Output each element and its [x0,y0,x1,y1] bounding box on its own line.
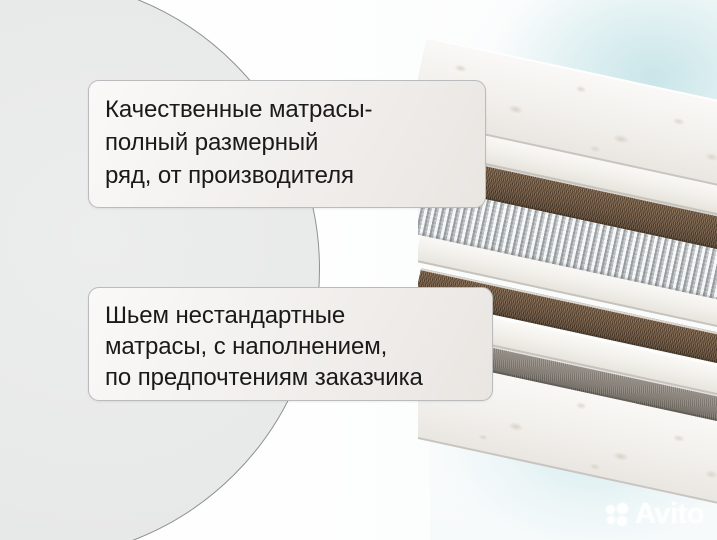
avito-watermark: Avito [606,500,704,529]
promo-image-canvas: Качественные матрасы- полный размерный р… [0,0,717,540]
callout-line: полный размерный [105,126,471,159]
callout-bubble-custom: Шьем нестандартные матрасы, с наполнение… [88,287,493,401]
callout-line: Качественные матрасы- [105,93,471,126]
avito-logo-icon [606,503,630,527]
callout-line: по предпочтениям заказчика [105,362,478,393]
callout-bubble-quality: Качественные матрасы- полный размерный р… [88,80,486,208]
callout-line: матрасы, с наполнением, [105,331,478,362]
callout-line: Шьем нестандартные [105,300,478,331]
callout-line: ряд, от производителя [105,159,471,192]
avito-wordmark: Avito [635,500,704,529]
